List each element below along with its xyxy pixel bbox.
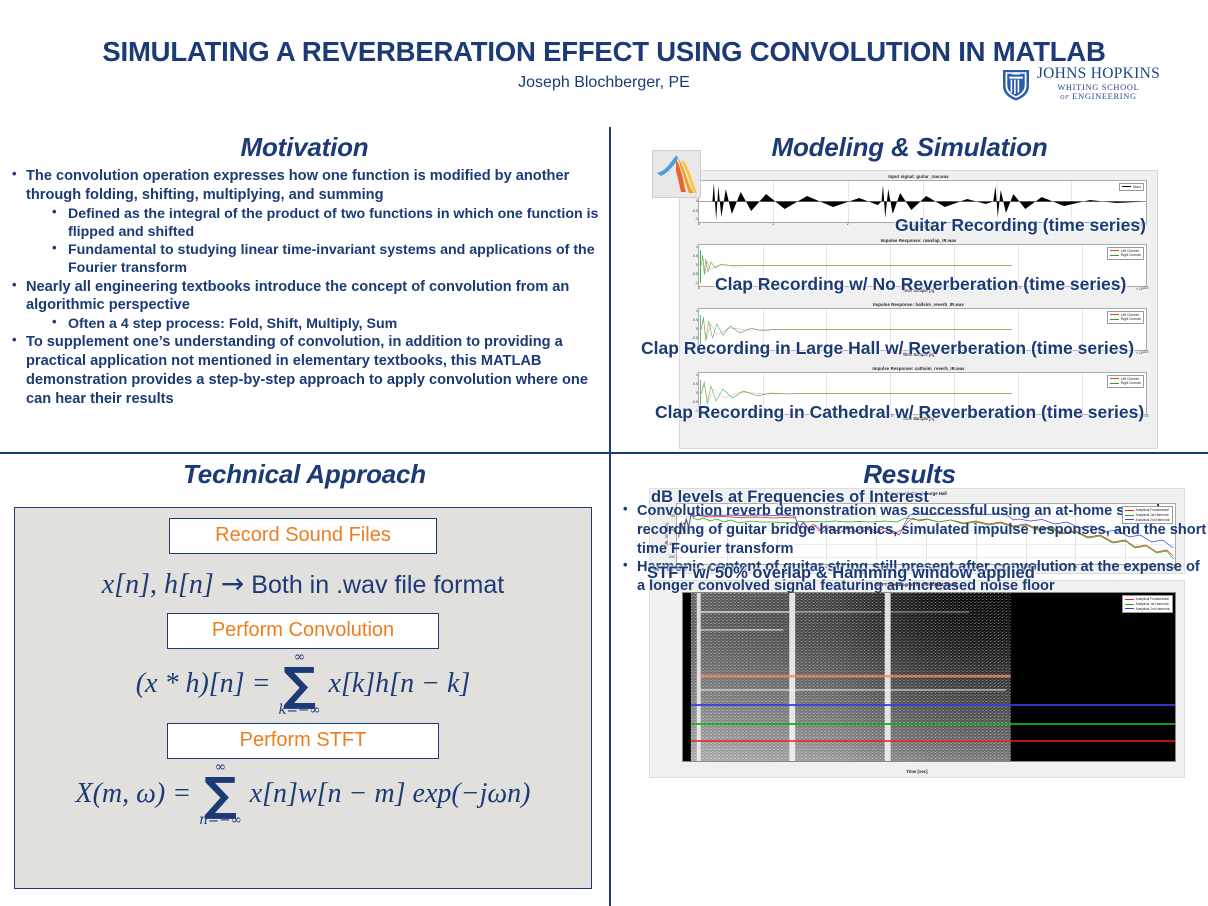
x-axis-exponent: × 10⁵ xyxy=(1136,287,1144,291)
overlay-caption-stft: STFT w/ 50% overlap & Hamming window app… xyxy=(647,564,1035,583)
technical-flow-box: Record Sound Files x[n], h[n] → Both in … xyxy=(14,507,592,889)
plot-legend: Mono xyxy=(1119,183,1144,192)
plot-title: Impulse Response: hallsim_reverb_IR.wav xyxy=(680,299,1157,308)
section-technical-approach: Technical Approach Record Sound Files x[… xyxy=(0,454,609,906)
section-results: Results Convolved Signal: Large Hall dB,… xyxy=(611,454,1208,906)
overlay-caption-guitar: Guitar Recording (time series) xyxy=(895,215,1146,236)
matlab-logo-icon xyxy=(652,150,701,198)
motivation-bullet-list: The convolution operation expresses how … xyxy=(0,167,609,408)
legend-entry: Mono xyxy=(1122,185,1141,190)
plot-title: Input signal: guitar_raw.wav xyxy=(680,171,1157,180)
x-axis-exponent: × 10⁵ xyxy=(1136,351,1144,355)
y-tick: 0.5 xyxy=(686,382,698,386)
y-tick: 1 xyxy=(686,309,698,313)
overlay-caption-db-levels: dB levels at Frequencies of Interest xyxy=(651,488,929,507)
formula1-lhs-h: h[n] xyxy=(164,569,214,600)
formula-convolution: (x * h)[n] = ∞ ∑ k=−∞ x[k]h[n − k] xyxy=(15,651,591,717)
y-tick: 1 xyxy=(686,245,698,249)
x-tick: 2 xyxy=(847,222,849,226)
legend-label: Right Channel xyxy=(1121,317,1141,322)
formula3-lhs: X(m, ω) = xyxy=(76,778,192,810)
overlay-caption-cathsim: Clap Recording in Cathedral w/ Reverbera… xyxy=(655,402,1144,423)
formula1-lhs-x: x[n] xyxy=(102,569,150,600)
legend-entry: Analytical 2nd Harmonic xyxy=(1125,607,1170,612)
x-tick: 3.5 xyxy=(1144,286,1149,290)
formula-stft: X(m, ω) = ∞ ∑ n=−∞ x[n]w[n − m] exp(−jωn… xyxy=(15,761,591,827)
y-tick: 0 xyxy=(686,263,698,267)
page-title: SIMULATING A REVERBERATION EFFECT USING … xyxy=(0,36,1208,68)
overlay-caption-hallsim: Clap Recording in Large Hall w/ Reverber… xyxy=(641,338,1134,359)
legend-label: Mono xyxy=(1133,185,1141,190)
list-item: Fundamental to studying linear time-inva… xyxy=(0,241,609,278)
sum-lower-limit: n=−∞ xyxy=(199,814,242,828)
overlay-caption-rawclap: Clap Recording w/ No Reverberation (time… xyxy=(715,274,1126,295)
list-item: Defined as the integral of the product o… xyxy=(0,205,609,242)
list-item: The convolution operation expresses how … xyxy=(0,167,609,205)
step-perform-convolution[interactable]: Perform Convolution xyxy=(167,613,439,649)
y-tick: -1 xyxy=(686,217,698,221)
poster-root: SIMULATING A REVERBERATION EFFECT USING … xyxy=(0,0,1208,906)
legend-label: Analytical 2nd Harmonic xyxy=(1136,518,1170,523)
spectrogram-image xyxy=(683,593,1175,761)
y-tick: -0.5 xyxy=(686,272,698,276)
legend-entry: Right Channel xyxy=(1110,317,1141,322)
y-tick: -0.5 xyxy=(686,209,698,213)
formula-wav-format: x[n], h[n] → Both in .wav file format xyxy=(15,567,591,601)
formula2-lhs: (x * h)[n] = xyxy=(136,668,271,700)
x-axis-label: Time [sec] xyxy=(650,769,1184,774)
plot-title: Impulse Response: rawclap_IR.wav xyxy=(680,235,1157,244)
formula3-rhs: x[n]w[n − m] exp(−jωn) xyxy=(250,778,531,810)
plot-legend: Analytical Fundamental Analytical 1st Ha… xyxy=(1122,595,1173,613)
legend-entry: Right Channel xyxy=(1110,253,1141,258)
x-tick: 0 xyxy=(698,286,700,290)
formula1-rhs: Both in .wav file format xyxy=(251,571,504,599)
sum-glyph: ∑ xyxy=(204,775,237,814)
y-tick: 0.5 xyxy=(686,254,698,258)
summation-symbol: ∞ ∑ n=−∞ xyxy=(199,761,242,827)
jhu-logo-name: JOHNS HOPKINS xyxy=(1037,66,1160,82)
y-tick: 1 xyxy=(686,373,698,377)
y-tick: 0 xyxy=(686,327,698,331)
jhu-shield-icon xyxy=(1001,67,1031,101)
summation-symbol: ∞ ∑ k=−∞ xyxy=(278,651,320,717)
list-item: To supplement one’s understanding of con… xyxy=(0,333,609,408)
motivation-title: Motivation xyxy=(0,127,609,163)
step-record-sound-files[interactable]: Record Sound Files xyxy=(169,518,437,554)
sum-glyph: ∑ xyxy=(283,665,316,704)
x-tick: 0 xyxy=(698,222,700,226)
x-tick: 3.5 xyxy=(1144,350,1149,354)
plot-legend: Left Channel Right Channel xyxy=(1107,311,1144,325)
step-perform-stft[interactable]: Perform STFT xyxy=(167,723,439,759)
legend-entry: Analytical 2nd Harmonic xyxy=(1125,518,1170,523)
legend-label: Right Channel xyxy=(1121,381,1141,386)
formula2-rhs: x[k]h[n − k] xyxy=(329,668,471,700)
list-item: Often a 4 step process: Fold, Shift, Mul… xyxy=(0,315,609,333)
section-motivation: Motivation The convolution operation exp… xyxy=(0,127,609,452)
x-tick: 3.5 xyxy=(1144,414,1149,418)
stft-spectrogram-chart: STFT Spectrogram of Convolved Signal xyxy=(649,580,1185,778)
y-tick: 0.5 xyxy=(686,318,698,322)
legend-entry: Right Channel xyxy=(1110,381,1141,386)
formula1-arrow: → xyxy=(221,567,244,600)
y-tick: -1 xyxy=(686,281,698,285)
y-tick: 0 xyxy=(686,199,698,203)
plot-title: Impulse Response: cathsim_reverb_IR.wav xyxy=(680,363,1157,372)
x-tick: 1 xyxy=(772,222,774,226)
plot-legend: Left Channel Right Channel xyxy=(1107,375,1144,389)
formula1-comma: , xyxy=(150,569,157,600)
poster-header: SIMULATING A REVERBERATION EFFECT USING … xyxy=(0,0,1208,122)
plot-legend: Analytical Fundamental Analytical 1st Ha… xyxy=(1122,506,1173,524)
y-tick: 0 xyxy=(686,391,698,395)
legend-label: Analytical 2nd Harmonic xyxy=(1136,607,1170,612)
results-title: Results xyxy=(611,454,1208,490)
jhu-logo-of: of xyxy=(1060,92,1069,101)
technical-title: Technical Approach xyxy=(0,454,609,490)
jhu-logo: JOHNS HOPKINS WHITING SCHOOL of ENGINEER… xyxy=(1001,66,1160,102)
list-item: Nearly all engineering textbooks introdu… xyxy=(0,278,609,316)
plot-axes: Analytical Fundamental Analytical 1st Ha… xyxy=(682,592,1176,762)
list-item: Convolution reverb demonstration was suc… xyxy=(611,502,1208,558)
sum-lower-limit: k=−∞ xyxy=(278,704,320,718)
jhu-logo-text: JOHNS HOPKINS WHITING SCHOOL of ENGINEER… xyxy=(1037,66,1160,102)
jhu-logo-line2: of ENGINEERING xyxy=(1037,93,1160,102)
plot-legend: Left Channel Right Channel xyxy=(1107,247,1144,261)
jhu-logo-engineering: ENGINEERING xyxy=(1072,92,1136,101)
legend-label: Right Channel xyxy=(1121,253,1141,258)
